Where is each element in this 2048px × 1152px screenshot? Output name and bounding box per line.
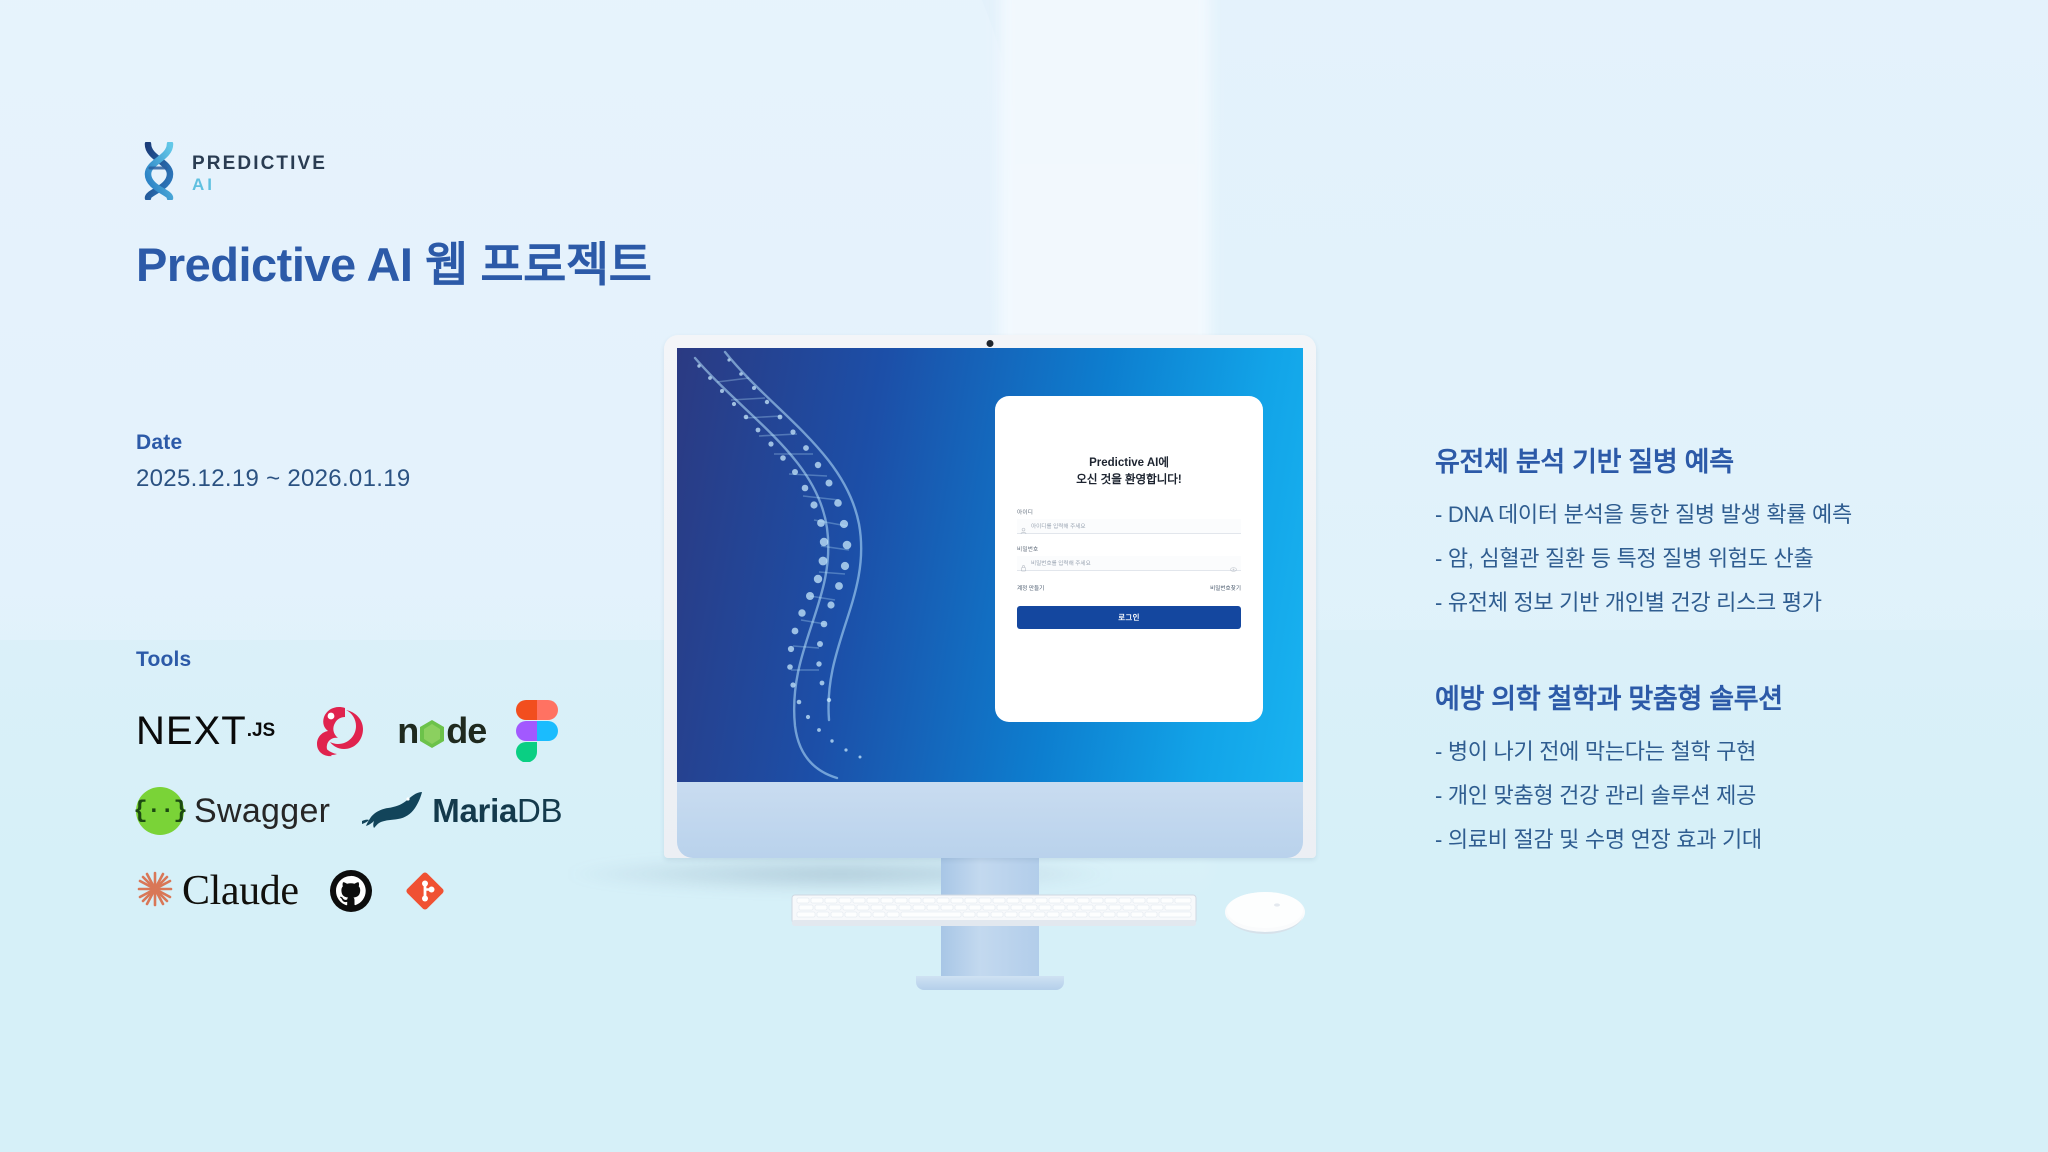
- feature-item: - 유전체 정보 기반 개인별 건강 리스크 평가: [1435, 585, 1995, 617]
- dna-helix-icon: [136, 142, 182, 200]
- tools-grid: NEXT.JS n: [136, 700, 776, 922]
- swagger-logo: {··} Swagger: [136, 787, 330, 835]
- feature-list: - DNA 데이터 분석을 통한 질병 발생 확률 예측 - 암, 심혈관 질환…: [1435, 497, 1995, 617]
- tools-label: Tools: [136, 648, 776, 672]
- swagger-word: Swagger: [194, 792, 330, 831]
- feature-block-1: 유전체 분석 기반 질병 예측 - DNA 데이터 분석을 통한 질병 발생 확…: [1435, 440, 1995, 617]
- eye-icon[interactable]: [1230, 560, 1237, 567]
- feature-item: - 병이 나기 전에 막는다는 철학 구현: [1435, 734, 1995, 766]
- mariadb-word: MariaDB: [432, 792, 562, 830]
- feature-block-2: 예방 의학 철학과 맞춤형 솔루션 - 병이 나기 전에 막는다는 철학 구현 …: [1435, 677, 1995, 854]
- monitor-stand-foot: [916, 976, 1064, 990]
- user-icon: [1020, 522, 1027, 530]
- tools-row: NEXT.JS n: [136, 700, 776, 762]
- feature-list: - 병이 나기 전에 막는다는 철학 구현 - 개인 맞춤형 건강 관리 솔루션…: [1435, 734, 1995, 854]
- claude-word: Claude: [182, 867, 299, 915]
- webcam-icon: [987, 340, 994, 347]
- find-password-link[interactable]: 비밀번호찾기: [1210, 584, 1241, 592]
- git-logo: [403, 869, 447, 913]
- page-title: Predictive AI 웹 프로젝트: [136, 226, 776, 295]
- id-field[interactable]: 아이디를 입력해 주세요: [1017, 519, 1241, 534]
- node-hex-icon: [419, 716, 445, 746]
- mariadb-logo: MariaDB: [360, 788, 562, 835]
- mariadb-seal-icon: [360, 788, 424, 835]
- right-column: 유전체 분석 기반 질병 예측 - DNA 데이터 분석을 통한 질병 발생 확…: [1435, 440, 1995, 854]
- login-heading: Predictive AI에 오신 것을 환영합니다!: [1017, 455, 1241, 488]
- mariadb-word-light: DB: [517, 792, 562, 829]
- date-label: Date: [136, 431, 776, 455]
- pw-field-placeholder: 비밀번호를 입력해 주세요: [1031, 559, 1091, 567]
- left-column: PREDICTIVE AI Predictive AI 웹 프로젝트 Date …: [136, 140, 776, 922]
- date-section: Date 2025.12.19 ~ 2026.01.19: [136, 431, 776, 493]
- slide-canvas: PREDICTIVE AI Predictive AI 웹 프로젝트 Date …: [0, 0, 2048, 1152]
- login-submit-button[interactable]: 로그인: [1017, 606, 1241, 629]
- nodejs-word-de: de: [446, 710, 486, 752]
- login-heading-line2: 오신 것을 환영합니다!: [1017, 472, 1241, 489]
- login-card: Predictive AI에 오신 것을 환영합니다! 아이디 아이디를 입력해…: [995, 396, 1263, 722]
- claude-starburst-icon: [136, 870, 174, 913]
- brand-name: PREDICTIVE: [192, 154, 327, 173]
- tools-row: {··} Swagger MariaDB: [136, 780, 776, 842]
- login-links: 계정 만들기 비밀번호찾기: [1017, 584, 1241, 592]
- feature-title: 예방 의학 철학과 맞춤형 솔루션: [1435, 677, 1995, 716]
- login-heading-line1: Predictive AI에: [1017, 455, 1241, 472]
- swagger-badge-icon: {··}: [136, 787, 184, 835]
- id-field-label: 아이디: [1017, 508, 1241, 516]
- claude-logo: Claude: [136, 867, 299, 915]
- nextjs-logo: NEXT.JS: [136, 709, 275, 754]
- lock-icon: [1020, 559, 1027, 567]
- feature-item: - 개인 맞춤형 건강 관리 솔루션 제공: [1435, 778, 1995, 810]
- github-logo: [329, 869, 373, 913]
- mariadb-word-bold: Maria: [432, 792, 517, 829]
- magic-keyboard: [790, 893, 1198, 929]
- feature-item: - 의료비 절감 및 수명 연장 효과 기대: [1435, 822, 1995, 854]
- magic-mouse: [1222, 888, 1308, 936]
- figma-logo: [516, 700, 558, 762]
- nestjs-logo: [305, 702, 367, 760]
- signup-link[interactable]: 계정 만들기: [1017, 584, 1044, 592]
- pw-field[interactable]: 비밀번호를 입력해 주세요: [1017, 556, 1241, 571]
- date-value: 2025.12.19 ~ 2026.01.19: [136, 465, 776, 493]
- brand-wordmark: PREDICTIVE AI: [192, 150, 327, 193]
- nextjs-suffix: .JS: [247, 720, 276, 742]
- brand-lockup: PREDICTIVE AI: [136, 140, 776, 202]
- pw-field-label: 비밀번호: [1017, 545, 1241, 553]
- nodejs-word-n: n: [397, 710, 418, 752]
- feature-item: - 암, 심혈관 질환 등 특정 질병 위험도 산출: [1435, 541, 1995, 573]
- tools-row: Claude: [136, 860, 776, 922]
- nextjs-word: NEXT: [136, 709, 247, 754]
- feature-title: 유전체 분석 기반 질병 예측: [1435, 440, 1995, 479]
- brand-subname: AI: [192, 176, 327, 193]
- tools-section: Tools NEXT.JS: [136, 648, 776, 922]
- id-field-placeholder: 아이디를 입력해 주세요: [1031, 522, 1086, 530]
- feature-item: - DNA 데이터 분석을 통한 질병 발생 확률 예측: [1435, 497, 1995, 529]
- nodejs-logo: n de: [397, 710, 486, 752]
